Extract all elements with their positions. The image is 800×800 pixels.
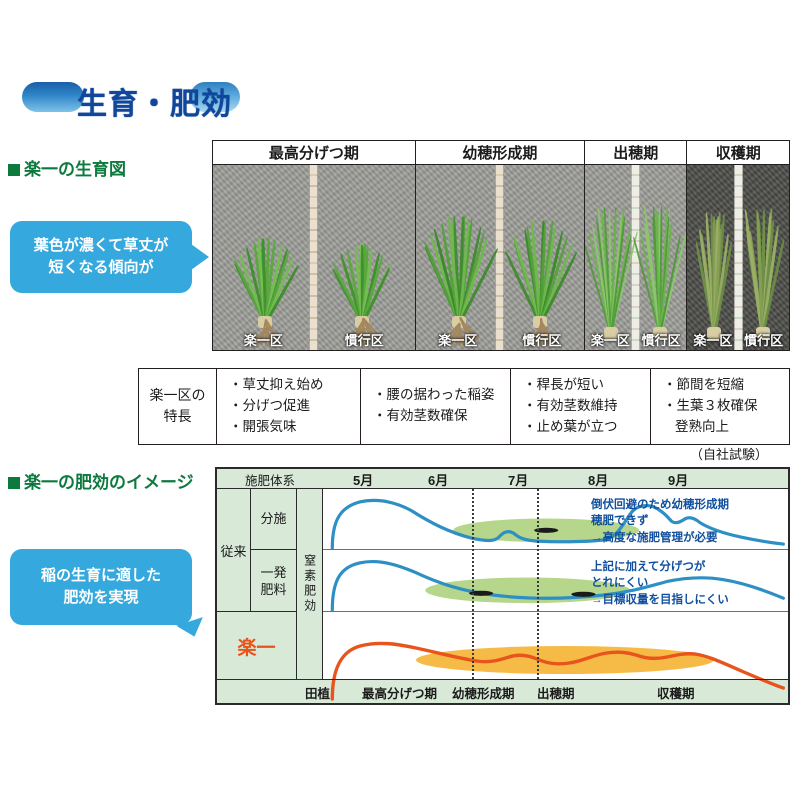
feature-item: ・分げつ促進 [229, 396, 356, 417]
callout-fertility: 稲の生育に適した 肥効を実現 [10, 549, 192, 625]
feature-row-header-line1: 楽一区の [139, 385, 216, 406]
photo-label-group: 楽一区 慣行区 [687, 328, 789, 350]
measuring-stick [495, 165, 504, 350]
callout-tail [176, 617, 208, 641]
month-label-3: 8月 [588, 470, 608, 489]
legacy-subrow-split: 分施 [251, 489, 296, 550]
month-label-2: 7月 [508, 470, 528, 489]
section-heading-growth: 楽一の生育図 [8, 155, 126, 180]
annotation-2-line1: 上記に加えて分げつが [591, 559, 729, 575]
feature-cell-2: ・稈長が短い ・有効茎数維持 ・止め葉が立つ [511, 369, 651, 445]
photo-label-test: 楽一区 [591, 330, 630, 349]
y-axis-label-text: 窒素肥効 [301, 554, 317, 614]
bullet-square-icon [8, 164, 20, 176]
stage-label-4: 収穫期 [657, 683, 695, 702]
gridline-panicle [537, 489, 539, 679]
section-heading-growth-label: 楽一の生育図 [24, 160, 126, 179]
feature-item: ・開張気味 [229, 417, 356, 438]
feature-item: ・節間を短縮 [663, 375, 785, 396]
title-banner: 生育・肥効 [22, 80, 240, 114]
measuring-stick [734, 165, 743, 350]
annotation-2-line3: →目標収量を目指しにくい [591, 592, 729, 608]
photo-label-test: 楽一区 [438, 330, 477, 349]
annotation-2: 上記に加えて分げつが とれにくい →目標収量を目指しにくい [591, 559, 729, 608]
fertility-chart: 施肥体系 5月 6月 7月 8月 9月 従来 分施 一発肥料 楽一 窒素肥効 [215, 467, 790, 705]
banner-pill-left [22, 82, 84, 112]
month-axis: 5月 6月 7月 8月 9月 [323, 469, 788, 489]
photo-tillering: 楽一区 慣行区 [213, 165, 415, 350]
callout-tail [191, 244, 209, 270]
feature-row: 楽一区の 特長 ・草丈抑え始め ・分げつ促進 ・開張気味 ・腰の据わった稲姿 ・… [139, 369, 790, 445]
feature-table: 楽一区の 特長 ・草丈抑え始め ・分げつ促進 ・開張気味 ・腰の据わった稲姿 ・… [138, 368, 790, 445]
photo-label-test: 楽一区 [693, 330, 732, 349]
callout-leaf-color-line2: 短くなる傾向が [48, 257, 153, 279]
feature-cell-0: ・草丈抑え始め ・分げつ促進 ・開張気味 [217, 369, 361, 445]
stage-header-1: 幼穂形成期 [415, 141, 584, 165]
stage-axis: 田植 最高分げつ期 幼穂形成期 出穂期 収穫期 [217, 679, 788, 703]
photo-cell-tillering: 楽一区 慣行区 [213, 165, 416, 351]
callout-fertility-line2: 肥効を実現 [63, 587, 138, 609]
feature-item: ・草丈抑え始め [229, 375, 356, 396]
study-note: （自社試験） [690, 444, 768, 463]
stage-label-3: 出穂期 [537, 683, 575, 702]
section-heading-fertility: 楽一の肥効のイメージ [8, 468, 194, 493]
page-title: 生育・肥効 [77, 79, 232, 123]
table-header-row: 最高分げつ期 幼穂形成期 出穂期 収穫期 [213, 141, 790, 165]
legacy-system-group: 従来 分施 一発肥料 [217, 489, 296, 612]
photo-heading: 楽一区 慣行区 [585, 165, 686, 350]
feature-cell-3: ・節間を短縮 ・生葉３枚確保 登熟向上 [651, 369, 790, 445]
callout-leaf-color-line1: 葉色が濃くて草丈が [34, 235, 169, 257]
stage-label-1: 最高分げつ期 [362, 683, 437, 702]
photo-cell-panicle-formation: 楽一区 慣行区 [415, 165, 584, 351]
photo-label-group: 楽一区 慣行区 [416, 328, 584, 350]
feature-item: ・稈長が短い [523, 375, 646, 396]
month-label-4: 9月 [668, 470, 688, 489]
feature-item: ・有効茎数維持 [523, 396, 646, 417]
stage-label-0: 田植 [305, 683, 330, 702]
stage-header-2: 出穂期 [585, 141, 687, 165]
measuring-stick [309, 165, 318, 350]
stage-header-0: 最高分げつ期 [213, 141, 416, 165]
photo-label-control: 慣行区 [744, 330, 783, 349]
gridline-tillering [472, 489, 474, 679]
photo-label-control: 慣行区 [345, 330, 384, 349]
highlight-zone [416, 646, 714, 674]
annotation-1-line1: 倒伏回避のため幼穂形成期 [591, 497, 729, 513]
table-photo-row: 楽一区 慣行区 楽一区 慣行区 楽一区 慣行区 [213, 165, 790, 351]
feature-cell-1: ・腰の据わった稲姿 ・有効茎数確保 [361, 369, 511, 445]
feature-item: 登熟向上 [663, 417, 785, 438]
photo-label-group: 楽一区 慣行区 [213, 328, 415, 350]
annotation-1-line2: 穂肥できず [591, 513, 729, 529]
callout-fertility-line1: 稲の生育に適した [41, 565, 161, 587]
legacy-label: 従来 [217, 489, 251, 611]
stage-header-3: 収穫期 [687, 141, 790, 165]
system-header-label: 施肥体系 [217, 470, 323, 489]
callout-leaf-color: 葉色が濃くて草丈が 短くなる傾向が [10, 221, 192, 293]
photo-label-control: 慣行区 [642, 330, 681, 349]
raku-label: 楽一 [217, 613, 296, 679]
month-label-1: 6月 [428, 470, 448, 489]
system-column: 従来 分施 一発肥料 楽一 [217, 489, 297, 679]
annotation-1-line3: →高度な施肥管理が必要 [591, 530, 729, 546]
photo-cell-harvest: 楽一区 慣行区 [687, 165, 790, 351]
legacy-subrow-single: 一発肥料 [251, 551, 296, 612]
photo-harvest: 楽一区 慣行区 [687, 165, 789, 350]
feature-row-header-line2: 特長 [139, 406, 216, 427]
stage-label-2: 幼穂形成期 [452, 683, 515, 702]
section-heading-fertility-label: 楽一の肥効のイメージ [24, 473, 194, 492]
annotation-2-line2: とれにくい [591, 575, 729, 591]
bullet-square-icon [8, 477, 20, 489]
photo-label-control: 慣行区 [522, 330, 561, 349]
feature-item: ・生葉３枚確保 [663, 396, 785, 417]
month-label-0: 5月 [353, 470, 373, 489]
feature-item: ・止め葉が立つ [523, 417, 646, 438]
annotation-1: 倒伏回避のため幼穂形成期 穂肥できず →高度な施肥管理が必要 [591, 497, 729, 546]
y-axis-label: 窒素肥効 [297, 489, 323, 679]
photo-panicle-formation: 楽一区 慣行区 [416, 165, 584, 350]
feature-item: ・腰の据わった稲姿 [373, 385, 506, 406]
feature-row-header: 楽一区の 特長 [139, 369, 217, 445]
growth-stage-table: 最高分げつ期 幼穂形成期 出穂期 収穫期 楽一区 慣行区 楽一区 慣行区 [212, 140, 790, 351]
photo-label-group: 楽一区 慣行区 [585, 328, 686, 350]
photo-label-test: 楽一区 [244, 330, 283, 349]
photo-cell-heading: 楽一区 慣行区 [585, 165, 687, 351]
feature-item: ・有効茎数確保 [373, 406, 506, 427]
chart-month-header: 施肥体系 5月 6月 7月 8月 9月 [217, 469, 788, 489]
